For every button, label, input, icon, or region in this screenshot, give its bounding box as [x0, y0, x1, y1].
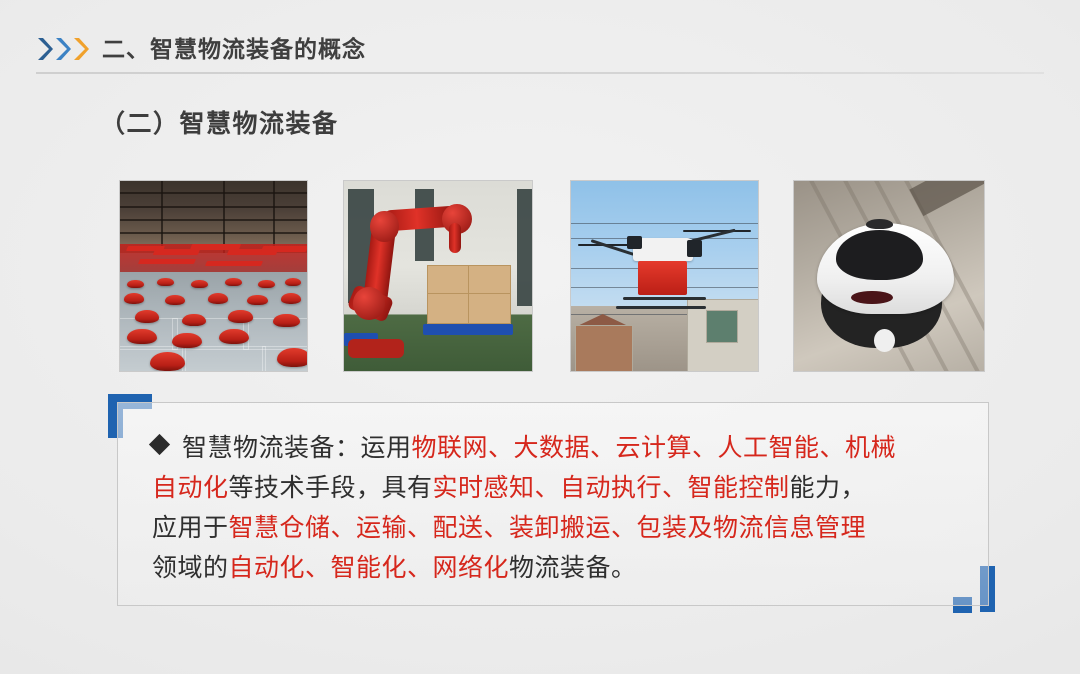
text-segment-4-2: 自动化、智能化、网络化 — [229, 554, 510, 582]
text-segment-2-2: 等技术手段，具有 — [229, 474, 433, 502]
definition-line-3: 应用于智慧仓储、运输、配送、装卸搬运、包装及物流信息管理 — [152, 508, 970, 548]
page-title: 二、智慧物流装备的概念 — [102, 30, 366, 64]
text-segment-4-3: 物流装备。 — [509, 554, 637, 582]
text-segment-4-1: 领域的 — [152, 554, 229, 582]
text-segment-2-1: 自动化 — [152, 474, 229, 502]
slide-canvas: 二、智慧物流装备的概念 （二）智慧物流装备 — [0, 0, 1080, 674]
header-divider — [36, 72, 1044, 74]
text-segment-1-1: 智慧物流装备：运用 — [182, 434, 412, 462]
chevron-group-icon — [36, 37, 89, 61]
photo-delivery-drone — [570, 180, 759, 372]
definition-line-4: 领域的自动化、智能化、网络化物流装备。 — [152, 548, 970, 588]
text-segment-2-3: 实时感知、自动执行、智能控制 — [433, 474, 790, 502]
text-segment-2-4: 能力， — [790, 474, 867, 502]
text-segment-1-2: 物联网、大数据、云计算、人工智能、机械 — [412, 434, 897, 462]
chevron-right-icon-3 — [72, 37, 89, 61]
section-subtitle: （二）智慧物流装备 — [100, 104, 339, 140]
slide-header: 二、智慧物流装备的概念 — [0, 28, 1080, 84]
definition-body-text: 智慧物流装备：运用物联网、大数据、云计算、人工智能、机械自动化等技术手段，具有实… — [152, 428, 970, 588]
chevron-right-icon-2 — [54, 37, 71, 61]
photo-autonomous-delivery-robot — [793, 180, 985, 372]
photo-palletizing-robot-arm — [343, 180, 533, 372]
definition-line-1: 智慧物流装备：运用物联网、大数据、云计算、人工智能、机械 — [152, 428, 970, 468]
text-segment-3-1: 应用于 — [152, 514, 229, 542]
chevron-right-icon-1 — [36, 37, 53, 61]
text-segment-3-2: 智慧仓储、运输、配送、装卸搬运、包装及物流信息管理 — [229, 514, 867, 542]
definition-line-2: 自动化等技术手段，具有实时感知、自动执行、智能控制能力， — [152, 468, 970, 508]
photo-agv-warehouse-robots — [119, 180, 308, 372]
